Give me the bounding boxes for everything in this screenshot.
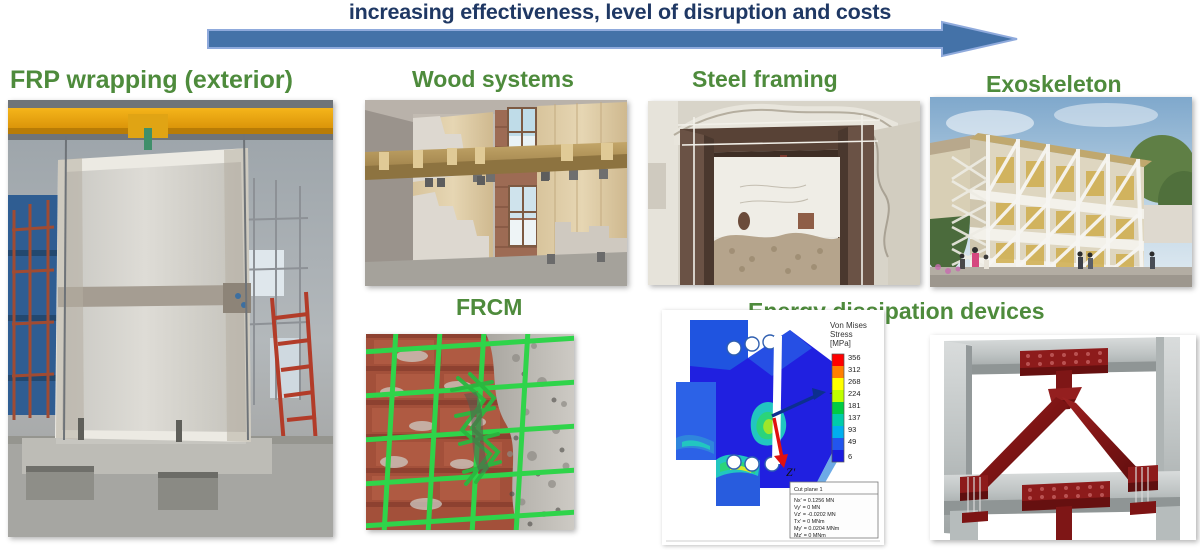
caption-frcm: FRCM (456, 296, 522, 319)
fea-axis-label-z: Z' (786, 465, 796, 479)
fea-legend-value-0: 356 (848, 353, 861, 362)
image-steel-framing (648, 101, 920, 285)
fea-info-row-4: My' = 0.0204 MNm (794, 526, 840, 532)
figure-canvas: increasing effectiveness, level of disru… (0, 0, 1200, 550)
image-fea-von-mises-plot: X' Z' Von Mises Stress [MPa] (662, 310, 884, 545)
image-frp-wrapping (8, 100, 333, 537)
fea-info-row-3: Tx' = 0 MNm (794, 519, 825, 525)
image-dissipative-brace-render (930, 335, 1196, 540)
progression-arrow (205, 20, 1020, 58)
fea-legend-value-3: 224 (848, 389, 861, 398)
caption-exoskeleton: Exoskeleton (986, 73, 1122, 96)
fea-legend-value-5: 137 (848, 413, 861, 422)
fea-legend-value-2: 268 (848, 377, 861, 386)
fea-legend-value-6: 93 (848, 425, 856, 434)
image-exoskeleton (930, 97, 1192, 287)
image-frcm (366, 334, 574, 530)
fea-info-row-2: Vz' = -0.0202 MN (794, 512, 836, 518)
caption-steel-framing: Steel framing (692, 68, 838, 91)
fea-legend-ramp (832, 354, 844, 462)
caption-frp-wrapping: FRP wrapping (exterior) (10, 68, 293, 93)
fea-legend-title-1: Von Mises (830, 321, 867, 330)
arrow-shape (208, 22, 1017, 56)
fea-legend-title-3: [MPa] (830, 339, 851, 348)
fea-legend-value-8: 6 (848, 452, 852, 461)
fea-legend-value-7: 49 (848, 437, 856, 446)
fea-legend-value-4: 181 (848, 401, 861, 410)
fea-info-row-0: Nx' = 0.1256 MN (794, 498, 834, 504)
fea-legend-value-1: 312 (848, 365, 861, 374)
fea-info-title: Cut plane 1 (794, 487, 823, 493)
fea-legend-title-2: Stress (830, 330, 853, 339)
fea-info-row-1: Vy' = 0 MN (794, 505, 820, 511)
caption-wood-systems: Wood systems (412, 68, 574, 91)
image-wood-systems (365, 100, 627, 286)
fea-info-box: Cut plane 1 Nx' = 0.1256 MN Vy' = 0 MN V… (790, 482, 878, 539)
fea-info-row-5: Mz' = 0 MNm (794, 533, 826, 539)
